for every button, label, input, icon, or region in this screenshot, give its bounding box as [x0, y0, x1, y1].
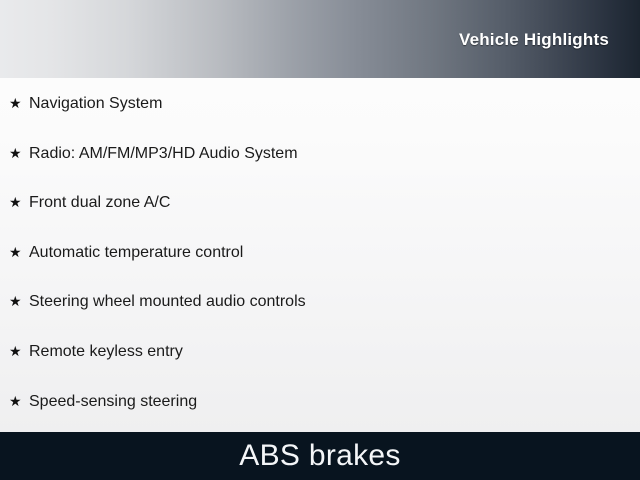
star-icon: ★ [9, 96, 29, 110]
star-icon: ★ [9, 245, 29, 259]
list-item: ★ Steering wheel mounted audio controls [9, 294, 306, 316]
star-icon: ★ [9, 294, 29, 308]
list-item-label: Radio: AM/FM/MP3/HD Audio System [29, 146, 298, 162]
list-item-label: Automatic temperature control [29, 245, 243, 261]
star-icon: ★ [9, 344, 29, 358]
list-item-label: Remote keyless entry [29, 344, 183, 360]
star-icon: ★ [9, 394, 29, 408]
star-icon: ★ [9, 195, 29, 209]
slide-header: Vehicle Highlights [0, 0, 640, 78]
list-item: ★ Remote keyless entry [9, 344, 183, 366]
list-item: ★ Navigation System [9, 96, 162, 118]
star-icon: ★ [9, 146, 29, 160]
list-item: ★ Front dual zone A/C [9, 195, 170, 217]
feature-list: ★ Navigation System ★ Radio: AM/FM/MP3/H… [0, 78, 640, 432]
list-item-label: Speed-sensing steering [29, 394, 197, 410]
bottom-banner: ABS brakes [0, 432, 640, 480]
list-item-label: Front dual zone A/C [29, 195, 170, 211]
list-item-label: Steering wheel mounted audio controls [29, 294, 306, 310]
list-item-label: Navigation System [29, 96, 162, 112]
banner-label: ABS brakes [239, 439, 400, 473]
list-item: ★ Speed-sensing steering [9, 394, 197, 416]
page-title: Vehicle Highlights [459, 30, 609, 50]
list-item: ★ Automatic temperature control [9, 245, 243, 267]
list-item: ★ Radio: AM/FM/MP3/HD Audio System [9, 146, 298, 168]
vehicle-highlights-slide: Vehicle Highlights ★ Navigation System ★… [0, 0, 640, 480]
